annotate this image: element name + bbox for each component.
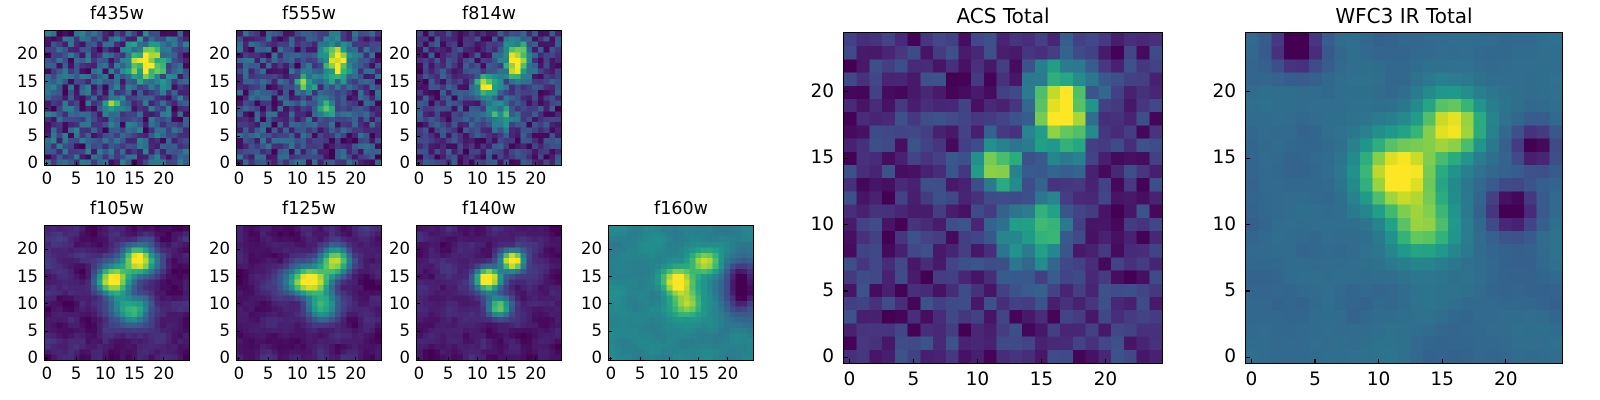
x-ticklabel-f435w-15: 15: [124, 171, 145, 188]
x-tick-f814w-5: [448, 162, 449, 166]
y-tick-f435w-10: [44, 108, 48, 109]
y-ticklabel-f105w-15: 15: [0, 268, 38, 285]
x-ticklabel-wfc3-ir-total-10: 10: [1367, 371, 1391, 390]
x-tick-f435w-10: [105, 162, 106, 166]
x-tick-f160w-10: [669, 357, 670, 361]
y-tick-f140w-20: [416, 249, 420, 250]
y-ticklabel-f435w-15: 15: [0, 73, 38, 90]
x-tick-f160w-5: [640, 357, 641, 361]
y-tick-f160w-10: [608, 303, 612, 304]
y-ticklabel-wfc3-ir-total-20: 20: [1196, 83, 1236, 102]
y-tick-f435w-15: [44, 81, 48, 82]
y-ticklabel-wfc3-ir-total-5: 5: [1196, 282, 1236, 301]
x-tick-wfc3-ir-total-0: [1251, 359, 1252, 364]
y-ticklabel-f814w-15: 15: [370, 73, 410, 90]
y-ticklabel-f555w-20: 20: [190, 46, 230, 63]
x-tick-f105w-5: [76, 357, 77, 361]
x-tick-f814w-20: [535, 162, 536, 166]
y-ticklabel-f105w-10: 10: [0, 296, 38, 313]
y-ticklabel-acs-total-20: 20: [794, 83, 834, 102]
y-tick-f105w-10: [44, 303, 48, 304]
x-tick-acs-total-20: [1105, 359, 1106, 364]
x-tick-f105w-10: [105, 357, 106, 361]
x-tick-f160w-20: [727, 357, 728, 361]
x-ticklabel-f435w-10: 10: [95, 171, 116, 188]
x-tick-acs-total-15: [1041, 359, 1042, 364]
y-ticklabel-f435w-10: 10: [0, 101, 38, 118]
x-ticklabel-acs-total-20: 20: [1094, 371, 1118, 390]
y-tick-f555w-0: [236, 163, 240, 164]
x-ticklabel-acs-total-10: 10: [966, 371, 990, 390]
y-tick-f555w-5: [236, 136, 240, 137]
y-ticklabel-f105w-0: 0: [0, 350, 38, 367]
y-tick-f140w-5: [416, 331, 420, 332]
y-ticklabel-f105w-5: 5: [0, 323, 38, 340]
y-ticklabel-f814w-5: 5: [370, 128, 410, 145]
x-ticklabel-wfc3-ir-total-5: 5: [1309, 371, 1321, 390]
x-ticklabel-f555w-5: 5: [263, 171, 274, 188]
y-tick-f814w-5: [416, 136, 420, 137]
x-tick-f105w-20: [163, 357, 164, 361]
y-tick-wfc3-ir-total-15: [1245, 158, 1250, 159]
axis-tick-layer: 0055101015152020005510101515202000551010…: [0, 0, 1600, 400]
y-tick-f125w-5: [236, 331, 240, 332]
x-ticklabel-f125w-0: 0: [234, 366, 245, 383]
x-tick-f125w-5: [268, 357, 269, 361]
x-tick-f105w-15: [134, 357, 135, 361]
y-ticklabel-wfc3-ir-total-15: 15: [1196, 149, 1236, 168]
y-ticklabel-f160w-5: 5: [562, 323, 602, 340]
y-tick-f814w-0: [416, 163, 420, 164]
y-ticklabel-f435w-5: 5: [0, 128, 38, 145]
x-ticklabel-f140w-5: 5: [443, 366, 454, 383]
x-tick-f435w-5: [76, 162, 77, 166]
y-tick-f140w-15: [416, 276, 420, 277]
y-tick-acs-total-5: [843, 290, 848, 291]
y-ticklabel-f125w-15: 15: [190, 268, 230, 285]
x-ticklabel-wfc3-ir-total-15: 15: [1430, 371, 1454, 390]
x-tick-wfc3-ir-total-20: [1505, 359, 1506, 364]
x-tick-f160w-15: [698, 357, 699, 361]
y-tick-f814w-10: [416, 108, 420, 109]
y-ticklabel-acs-total-0: 0: [794, 348, 834, 367]
y-ticklabel-f140w-0: 0: [370, 350, 410, 367]
x-ticklabel-f160w-20: 20: [717, 366, 738, 383]
x-ticklabel-f140w-15: 15: [496, 366, 517, 383]
x-ticklabel-f105w-5: 5: [71, 366, 82, 383]
figure-canvas: f435w f555w f814w f105w f125w f140w: [0, 0, 1600, 400]
x-tick-f555w-5: [268, 162, 269, 166]
y-tick-acs-total-0: [843, 357, 848, 358]
y-tick-f105w-5: [44, 331, 48, 332]
x-ticklabel-wfc3-ir-total-20: 20: [1494, 371, 1518, 390]
x-ticklabel-f160w-5: 5: [635, 366, 646, 383]
x-tick-f140w-20: [535, 357, 536, 361]
y-ticklabel-f140w-10: 10: [370, 296, 410, 313]
x-ticklabel-f160w-15: 15: [688, 366, 709, 383]
y-ticklabel-f555w-15: 15: [190, 73, 230, 90]
x-ticklabel-f105w-0: 0: [42, 366, 53, 383]
x-ticklabel-f814w-5: 5: [443, 171, 454, 188]
x-tick-wfc3-ir-total-10: [1378, 359, 1379, 364]
y-tick-f814w-15: [416, 81, 420, 82]
x-ticklabel-f814w-20: 20: [525, 171, 546, 188]
x-tick-f555w-20: [355, 162, 356, 166]
y-ticklabel-f140w-5: 5: [370, 323, 410, 340]
x-tick-f140w-5: [448, 357, 449, 361]
y-ticklabel-f160w-20: 20: [562, 241, 602, 258]
x-ticklabel-f125w-15: 15: [316, 366, 337, 383]
y-tick-f125w-15: [236, 276, 240, 277]
x-ticklabel-f435w-5: 5: [71, 171, 82, 188]
y-ticklabel-f435w-20: 20: [0, 46, 38, 63]
y-ticklabel-f160w-0: 0: [562, 350, 602, 367]
y-ticklabel-f435w-0: 0: [0, 155, 38, 172]
x-tick-f125w-15: [326, 357, 327, 361]
x-tick-acs-total-0: [849, 359, 850, 364]
y-ticklabel-f140w-20: 20: [370, 241, 410, 258]
y-tick-f105w-0: [44, 358, 48, 359]
x-ticklabel-f555w-0: 0: [234, 171, 245, 188]
y-tick-f140w-0: [416, 358, 420, 359]
x-tick-acs-total-10: [977, 359, 978, 364]
y-ticklabel-f125w-20: 20: [190, 241, 230, 258]
y-tick-wfc3-ir-total-10: [1245, 224, 1250, 225]
x-ticklabel-f160w-10: 10: [659, 366, 680, 383]
y-tick-acs-total-15: [843, 158, 848, 159]
y-tick-f105w-15: [44, 276, 48, 277]
x-tick-f555w-15: [326, 162, 327, 166]
y-ticklabel-acs-total-15: 15: [794, 149, 834, 168]
x-ticklabel-f814w-10: 10: [467, 171, 488, 188]
x-tick-f125w-10: [297, 357, 298, 361]
y-ticklabel-f555w-5: 5: [190, 128, 230, 145]
x-tick-f814w-10: [477, 162, 478, 166]
y-tick-f160w-20: [608, 249, 612, 250]
x-ticklabel-f814w-15: 15: [496, 171, 517, 188]
y-ticklabel-f160w-10: 10: [562, 296, 602, 313]
y-tick-f125w-0: [236, 358, 240, 359]
y-tick-f555w-10: [236, 108, 240, 109]
y-tick-f555w-15: [236, 81, 240, 82]
y-ticklabel-wfc3-ir-total-0: 0: [1196, 348, 1236, 367]
x-tick-f140w-10: [477, 357, 478, 361]
y-ticklabel-wfc3-ir-total-10: 10: [1196, 215, 1236, 234]
x-tick-f140w-15: [506, 357, 507, 361]
y-tick-wfc3-ir-total-5: [1245, 290, 1250, 291]
x-ticklabel-f125w-5: 5: [263, 366, 274, 383]
x-ticklabel-wfc3-ir-total-0: 0: [1245, 371, 1257, 390]
x-ticklabel-f125w-20: 20: [345, 366, 366, 383]
y-ticklabel-f105w-20: 20: [0, 241, 38, 258]
x-ticklabel-f105w-10: 10: [95, 366, 116, 383]
y-tick-f435w-5: [44, 136, 48, 137]
y-ticklabel-f125w-0: 0: [190, 350, 230, 367]
y-ticklabel-f555w-0: 0: [190, 155, 230, 172]
x-ticklabel-f105w-15: 15: [124, 366, 145, 383]
y-ticklabel-f814w-10: 10: [370, 101, 410, 118]
y-tick-f435w-20: [44, 54, 48, 55]
x-ticklabel-f435w-20: 20: [153, 171, 174, 188]
y-ticklabel-acs-total-5: 5: [794, 282, 834, 301]
y-ticklabel-f125w-10: 10: [190, 296, 230, 313]
x-tick-f814w-15: [506, 162, 507, 166]
y-tick-f435w-0: [44, 163, 48, 164]
x-ticklabel-f140w-0: 0: [414, 366, 425, 383]
y-tick-f160w-0: [608, 358, 612, 359]
x-tick-acs-total-5: [913, 359, 914, 364]
y-tick-f160w-5: [608, 331, 612, 332]
y-tick-f160w-15: [608, 276, 612, 277]
y-tick-f814w-20: [416, 54, 420, 55]
y-tick-wfc3-ir-total-20: [1245, 91, 1250, 92]
y-tick-wfc3-ir-total-0: [1245, 357, 1250, 358]
y-tick-f140w-10: [416, 303, 420, 304]
x-ticklabel-f555w-10: 10: [287, 171, 308, 188]
y-tick-acs-total-20: [843, 91, 848, 92]
x-ticklabel-f814w-0: 0: [414, 171, 425, 188]
x-ticklabel-f555w-20: 20: [345, 171, 366, 188]
x-tick-wfc3-ir-total-5: [1314, 359, 1315, 364]
y-ticklabel-f555w-10: 10: [190, 101, 230, 118]
y-tick-f125w-10: [236, 303, 240, 304]
x-ticklabel-acs-total-15: 15: [1030, 371, 1054, 390]
x-tick-f125w-20: [355, 357, 356, 361]
y-tick-f125w-20: [236, 249, 240, 250]
y-ticklabel-f125w-5: 5: [190, 323, 230, 340]
x-ticklabel-f160w-0: 0: [606, 366, 617, 383]
y-tick-f555w-20: [236, 54, 240, 55]
y-ticklabel-f160w-15: 15: [562, 268, 602, 285]
x-tick-f435w-15: [134, 162, 135, 166]
x-tick-f555w-10: [297, 162, 298, 166]
x-ticklabel-acs-total-0: 0: [844, 371, 856, 390]
x-ticklabel-f125w-10: 10: [287, 366, 308, 383]
y-ticklabel-f814w-20: 20: [370, 46, 410, 63]
y-ticklabel-f140w-15: 15: [370, 268, 410, 285]
x-ticklabel-f435w-0: 0: [42, 171, 53, 188]
y-ticklabel-acs-total-10: 10: [794, 215, 834, 234]
x-tick-wfc3-ir-total-15: [1442, 359, 1443, 364]
x-ticklabel-f555w-15: 15: [316, 171, 337, 188]
x-ticklabel-f140w-10: 10: [467, 366, 488, 383]
x-ticklabel-f140w-20: 20: [525, 366, 546, 383]
y-ticklabel-f814w-0: 0: [370, 155, 410, 172]
y-tick-f105w-20: [44, 249, 48, 250]
x-ticklabel-acs-total-5: 5: [908, 371, 920, 390]
y-tick-acs-total-10: [843, 224, 848, 225]
x-ticklabel-f105w-20: 20: [153, 366, 174, 383]
x-tick-f435w-20: [163, 162, 164, 166]
